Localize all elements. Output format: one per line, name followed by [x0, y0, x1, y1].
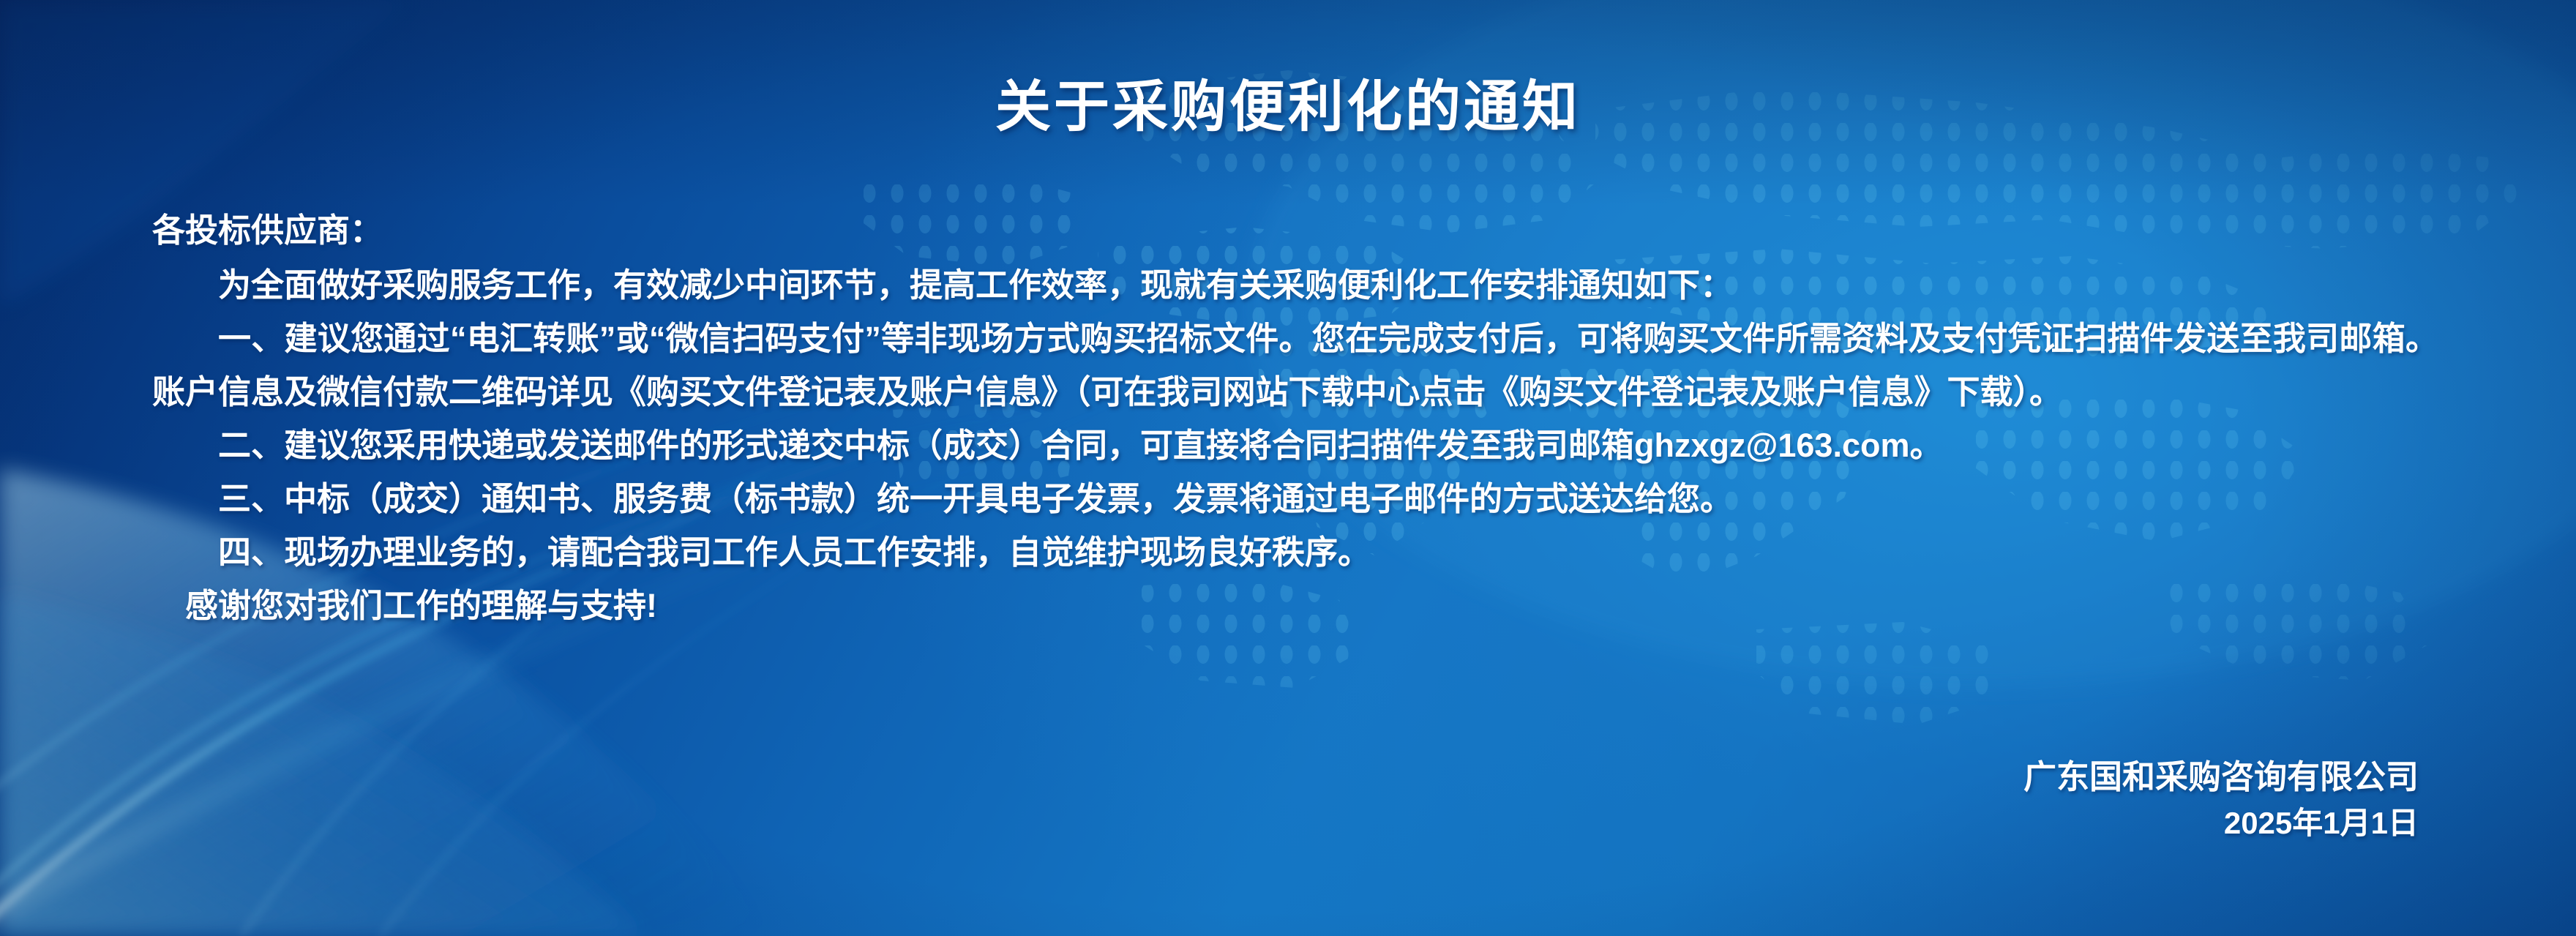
signature-organization: 广东国和采购咨询有限公司: [2023, 754, 2419, 801]
signature-date: 2025年1月1日: [2023, 801, 2419, 846]
closing-line: 感谢您对我们工作的理解与支持!: [152, 579, 2438, 632]
salutation-line: 各投标供应商：: [152, 203, 2438, 257]
paragraph-item-3: 三、中标（成交）通知书、服务费（标书款）统一开具电子发票，发票将通过电子邮件的方…: [152, 472, 2438, 525]
banner-content: 关于采购便利化的通知 各投标供应商： 为全面做好采购服务工作，有效减少中间环节，…: [0, 0, 2576, 936]
paragraph-intro: 为全面做好采购服务工作，有效减少中间环节，提高工作效率，现就有关采购便利化工作安…: [152, 258, 2438, 312]
paragraph-item-4: 四、现场办理业务的，请配合我司工作人员工作安排，自觉维护现场良好秩序。: [152, 525, 2438, 579]
notice-banner: 关于采购便利化的通知 各投标供应商： 为全面做好采购服务工作，有效减少中间环节，…: [0, 0, 2576, 936]
banner-title: 关于采购便利化的通知: [0, 61, 2576, 142]
paragraph-item-2: 二、建议您采用快递或发送邮件的形式递交中标（成交）合同，可直接将合同扫描件发至我…: [152, 419, 2438, 472]
signature-block: 广东国和采购咨询有限公司 2025年1月1日: [2023, 754, 2419, 846]
notice-body: 各投标供应商： 为全面做好采购服务工作，有效减少中间环节，提高工作效率，现就有关…: [152, 203, 2438, 632]
paragraph-item-1: 一、建议您通过“电汇转账”或“微信扫码支付”等非现场方式购买招标文件。您在完成支…: [152, 312, 2438, 419]
